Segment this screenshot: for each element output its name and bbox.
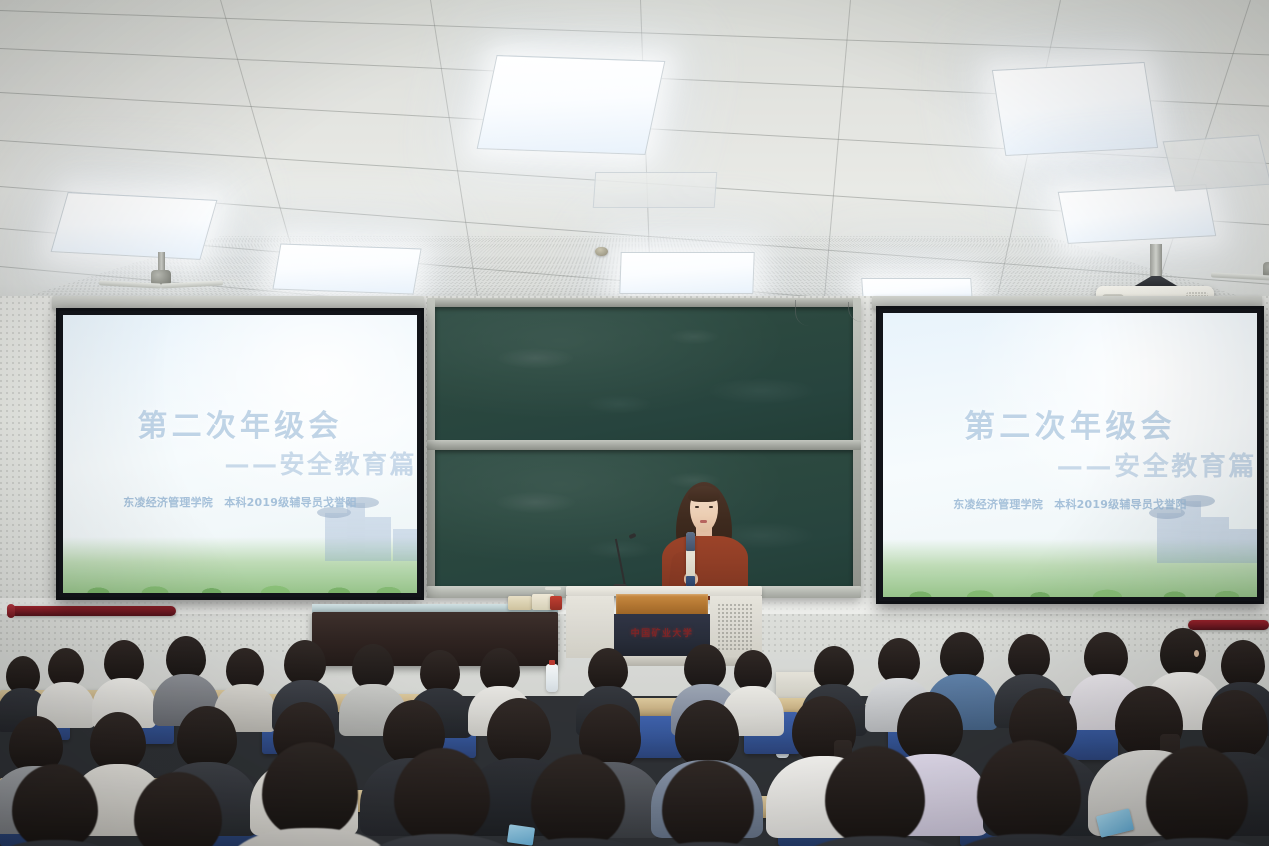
lectern-gooseneck-microphone xyxy=(612,532,648,590)
slide-subtitle: ——安全教育篇 xyxy=(63,445,417,481)
slide-title: 第二次年级会 xyxy=(883,401,1257,446)
student xyxy=(380,748,504,846)
blackboard-middle-rail xyxy=(427,440,861,450)
ceiling-light-panel xyxy=(477,55,666,155)
chalk-piece xyxy=(545,587,561,590)
red-box xyxy=(550,596,562,610)
student xyxy=(0,764,110,846)
cardboard-box xyxy=(508,596,532,610)
student xyxy=(248,742,372,846)
ceiling-light-panel xyxy=(272,244,421,295)
ceiling-light-panel-off xyxy=(593,172,718,208)
lectern-wood-panel xyxy=(616,594,708,616)
student xyxy=(962,740,1096,846)
ceiling-light-panel xyxy=(992,62,1158,156)
hanging-cable xyxy=(795,300,830,326)
water-bottle xyxy=(546,664,558,692)
smartphone xyxy=(507,824,535,845)
left-projection-screen: 第二次年级会 ——安全教育篇 东凌经济管理学院 本科2019级辅导员戈誉阳 xyxy=(56,308,424,600)
student xyxy=(648,760,768,846)
lectern-emblem-text: 中国矿业大学 xyxy=(614,626,710,639)
slide-credit: 东凌经济管理学院 本科2019级辅导员戈誉阳 xyxy=(883,496,1257,512)
slide-subtitle: ——安全教育篇 xyxy=(883,446,1257,483)
ceiling-fan xyxy=(96,252,226,296)
ceiling-light-panel-off xyxy=(1163,135,1269,192)
slide-credit: 东凌经济管理学院 本科2019级辅导员戈誉阳 xyxy=(63,494,417,510)
blackboard-panel-upper xyxy=(435,307,853,442)
presenter-eye xyxy=(709,506,713,508)
ceiling-light-panel xyxy=(1058,184,1217,244)
lecture-hall-photo: EPSON xyxy=(0,0,1269,846)
student xyxy=(122,772,234,846)
ceiling: EPSON xyxy=(0,0,1269,330)
ceiling-fan xyxy=(1218,244,1269,286)
slide-left: 第二次年级会 ——安全教育篇 东凌经济管理学院 本科2019级辅导员戈誉阳 xyxy=(63,315,417,593)
presenter-mouth xyxy=(700,520,707,523)
student xyxy=(1124,746,1269,846)
presenter-fringe xyxy=(688,486,720,502)
ceiling-light-panel xyxy=(619,252,754,294)
presenter xyxy=(648,480,760,600)
right-projection-screen: 第二次年级会 ——安全教育篇 东凌经济管理学院 本科2019级辅导员戈誉阳 xyxy=(876,306,1264,604)
slide-title: 第二次年级会 xyxy=(63,401,417,445)
smoke-detector-icon xyxy=(595,247,608,256)
student xyxy=(516,754,640,846)
slide-right: 第二次年级会 ——安全教育篇 东凌经济管理学院 本科2019级辅导员戈誉阳 xyxy=(883,313,1257,597)
microphone-head xyxy=(686,532,695,551)
student xyxy=(810,746,940,846)
red-wall-pipe-left xyxy=(10,606,176,616)
projector-mount-pole xyxy=(1150,244,1162,278)
ceiling-light-panel xyxy=(51,192,218,260)
presenter-eye xyxy=(695,506,699,508)
handheld-microphone xyxy=(686,532,695,588)
